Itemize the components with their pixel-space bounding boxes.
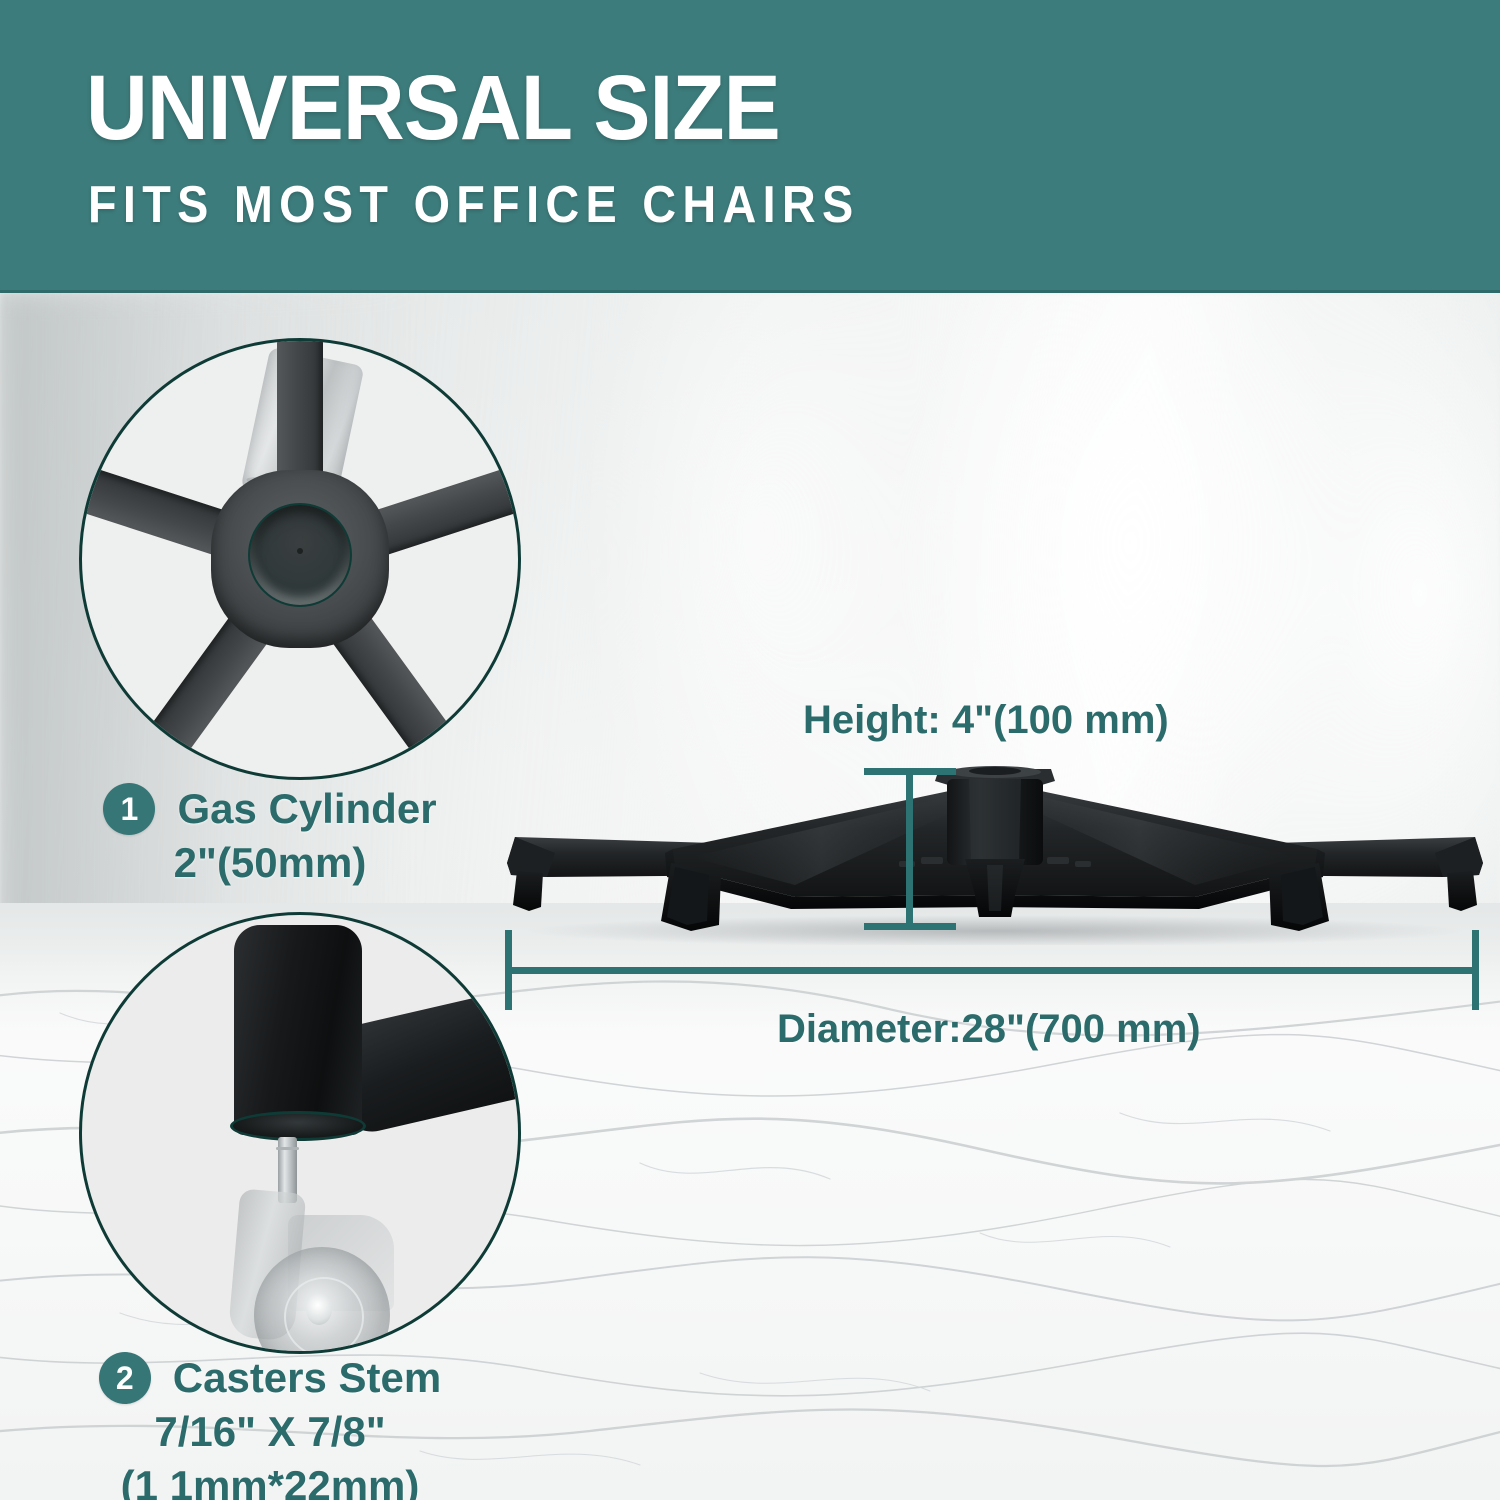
gas-cylinder-inset xyxy=(79,338,521,780)
chair-base-product xyxy=(495,745,1495,945)
caster-stem-spec-metric: (1 1mm*22mm) xyxy=(60,1460,480,1500)
badge-2: 2 xyxy=(99,1352,151,1404)
page-subtitle: FITS MOST OFFICE CHAIRS xyxy=(88,176,859,234)
infographic-canvas: UNIVERSAL SIZE FITS MOST OFFICE CHAIRS xyxy=(0,0,1500,1500)
caster-socket-icon xyxy=(230,1111,366,1141)
header-banner: UNIVERSAL SIZE FITS MOST OFFICE CHAIRS xyxy=(0,0,1500,293)
gas-cylinder-label: 1 Gas Cylinder 2"(50mm) xyxy=(60,783,480,889)
caster-stem-inset xyxy=(79,912,521,1354)
chair-base-icon xyxy=(495,745,1495,945)
height-dimension-cap-bottom xyxy=(864,923,956,930)
height-dimension-line xyxy=(906,768,913,930)
diameter-dimension-cap-right xyxy=(1472,930,1479,1010)
base-leg-end xyxy=(234,925,362,1135)
cylinder-socket-icon xyxy=(248,503,352,607)
page-title: UNIVERSAL SIZE xyxy=(86,62,780,154)
caster-stem-label: 2 Casters Stem 7/16" X 7/8" (1 1mm*22mm) xyxy=(60,1352,480,1500)
gas-cylinder-title: Gas Cylinder xyxy=(177,784,436,834)
diameter-dimension-line xyxy=(505,967,1479,974)
gas-cylinder-spec: 2"(50mm) xyxy=(60,837,480,889)
diameter-dimension-label: Diameter:28"(700 mm) xyxy=(777,1007,1201,1052)
badge-1: 1 xyxy=(103,783,155,835)
height-dimension-label: Height: 4"(100 mm) xyxy=(803,698,1169,743)
caster-stem-spec-imperial: 7/16" X 7/8" xyxy=(60,1406,480,1458)
caster-stem-title: Casters Stem xyxy=(173,1353,441,1403)
